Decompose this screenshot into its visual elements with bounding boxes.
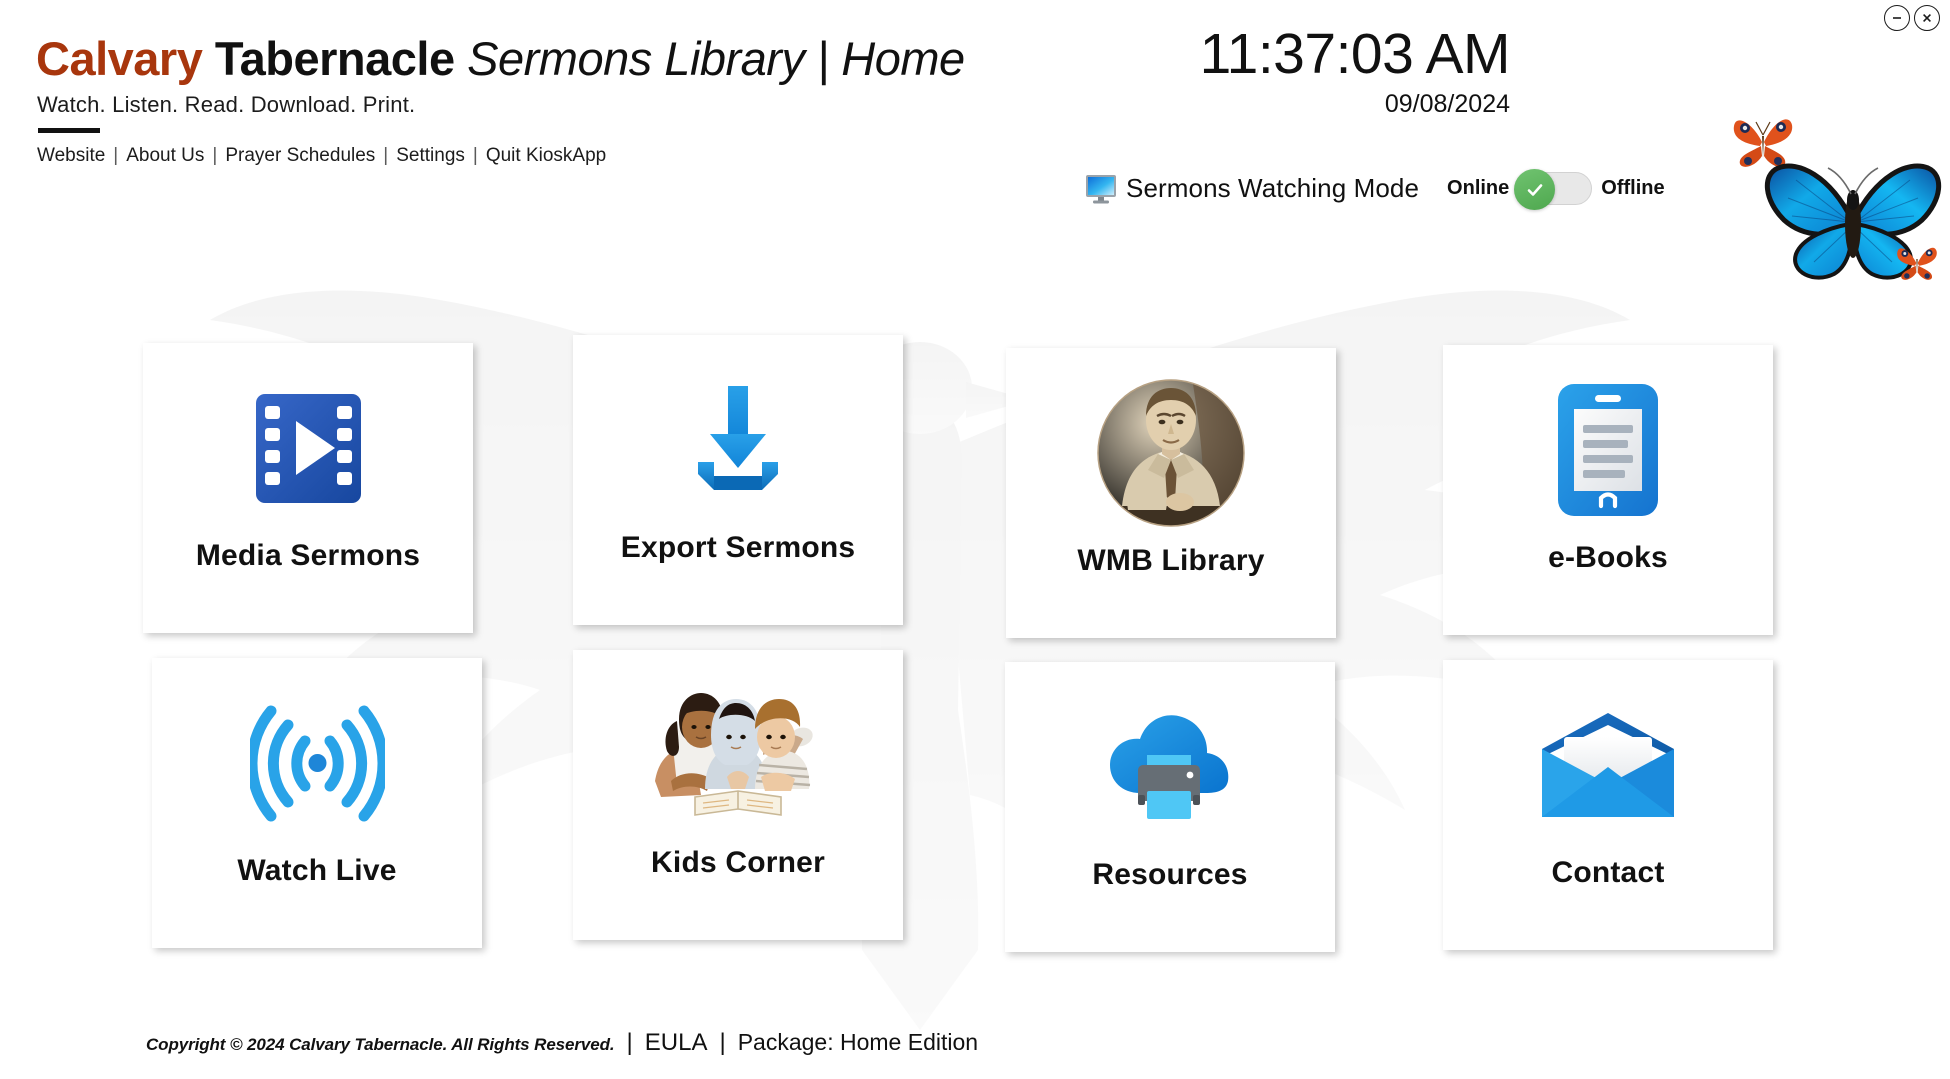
- children-reading-icon: [643, 680, 833, 830]
- online-offline-toggle[interactable]: [1516, 172, 1592, 205]
- tile-label: Media Sermons: [196, 539, 420, 573]
- copyright-text: Copyright © 2024 Calvary Tabernacle. All…: [146, 1035, 615, 1055]
- watching-mode-row: Sermons Watching Mode Online Offline: [1085, 172, 1665, 205]
- kiosk-home-screen: Calvary Tabernacle Sermons Library | Hom…: [0, 0, 1950, 1079]
- portrait-photo-icon: [1096, 378, 1246, 528]
- nav-item-prayer-schedules[interactable]: Prayer Schedules: [224, 143, 376, 169]
- download-tray-icon: [663, 365, 813, 515]
- tile-label: Resources: [1092, 858, 1247, 892]
- page-title-rest: Sermons Library | Home: [467, 32, 965, 85]
- nav-item-about-us[interactable]: About Us: [125, 143, 205, 169]
- close-circle-icon[interactable]: [1914, 5, 1940, 31]
- tile-label: Kids Corner: [651, 846, 825, 880]
- watching-mode-label: Sermons Watching Mode: [1126, 173, 1419, 204]
- footer-separator: |: [615, 1029, 645, 1057]
- tagline: Watch. Listen. Read. Download. Print.: [37, 92, 415, 118]
- online-offline-toggle-group: Online Offline: [1447, 172, 1665, 205]
- toggle-label-online: Online: [1447, 177, 1509, 200]
- nav-separator: |: [466, 145, 485, 167]
- tile-label: e-Books: [1548, 541, 1668, 575]
- nav-item-quit-kioskapp[interactable]: Quit KioskApp: [485, 143, 607, 169]
- accent-bar: [38, 128, 100, 133]
- page-title: Calvary Tabernacle Sermons Library | Hom…: [36, 30, 965, 88]
- nav-separator: |: [376, 145, 395, 167]
- toggle-label-offline: Offline: [1601, 177, 1664, 200]
- clock-time: 11:37:03 AM: [1200, 24, 1510, 84]
- tile-row-1: Media Sermons: [0, 335, 1950, 625]
- tile-row-2: Watch Live: [0, 650, 1950, 940]
- tile-export-sermons[interactable]: Export Sermons: [573, 335, 903, 625]
- tile-kids-corner[interactable]: Kids Corner: [573, 650, 903, 940]
- footer-separator: |: [707, 1029, 737, 1057]
- ereader-icon: [1533, 375, 1683, 525]
- tile-label: Contact: [1551, 856, 1664, 890]
- tile-label: Watch Live: [237, 854, 396, 888]
- package-text: Package: Home Edition: [738, 1029, 978, 1056]
- clock-block: 11:37:03 AM 09/08/2024: [1200, 24, 1510, 119]
- tile-grid: Media Sermons: [0, 335, 1950, 940]
- tile-contact[interactable]: Contact: [1443, 660, 1773, 950]
- tile-media-sermons[interactable]: Media Sermons: [143, 343, 473, 633]
- nav-item-settings[interactable]: Settings: [395, 143, 466, 169]
- eula-link[interactable]: EULA: [645, 1029, 708, 1057]
- monitor-icon: [1085, 174, 1117, 204]
- nav-separator: |: [205, 145, 224, 167]
- brand-name-secondary: Tabernacle: [215, 32, 455, 85]
- clock-date: 09/08/2024: [1200, 90, 1510, 119]
- cloud-printer-icon: [1095, 692, 1245, 842]
- minimize-circle-icon[interactable]: [1884, 5, 1910, 31]
- footer: Copyright © 2024 Calvary Tabernacle. All…: [146, 1029, 978, 1057]
- header: Calvary Tabernacle Sermons Library | Hom…: [0, 0, 1950, 215]
- main-nav: Website | About Us | Prayer Schedules | …: [36, 143, 607, 169]
- brand-name-primary: Calvary: [36, 32, 202, 85]
- nav-separator: |: [106, 145, 125, 167]
- window-controls: [1884, 5, 1940, 31]
- tile-watch-live[interactable]: Watch Live: [152, 658, 482, 948]
- broadcast-signal-icon: [242, 688, 392, 838]
- orange-peacock-butterfly-icon: [1896, 240, 1938, 282]
- open-envelope-icon: [1533, 690, 1683, 840]
- tile-label: WMB Library: [1077, 544, 1264, 578]
- tile-resources[interactable]: Resources: [1005, 662, 1335, 952]
- toggle-knob-check-icon[interactable]: [1514, 169, 1555, 210]
- film-play-icon: [233, 373, 383, 523]
- nav-item-website[interactable]: Website: [36, 143, 106, 169]
- tile-wmb-library[interactable]: WMB Library: [1006, 348, 1336, 638]
- tile-ebooks[interactable]: e-Books: [1443, 345, 1773, 635]
- tile-label: Export Sermons: [621, 531, 856, 565]
